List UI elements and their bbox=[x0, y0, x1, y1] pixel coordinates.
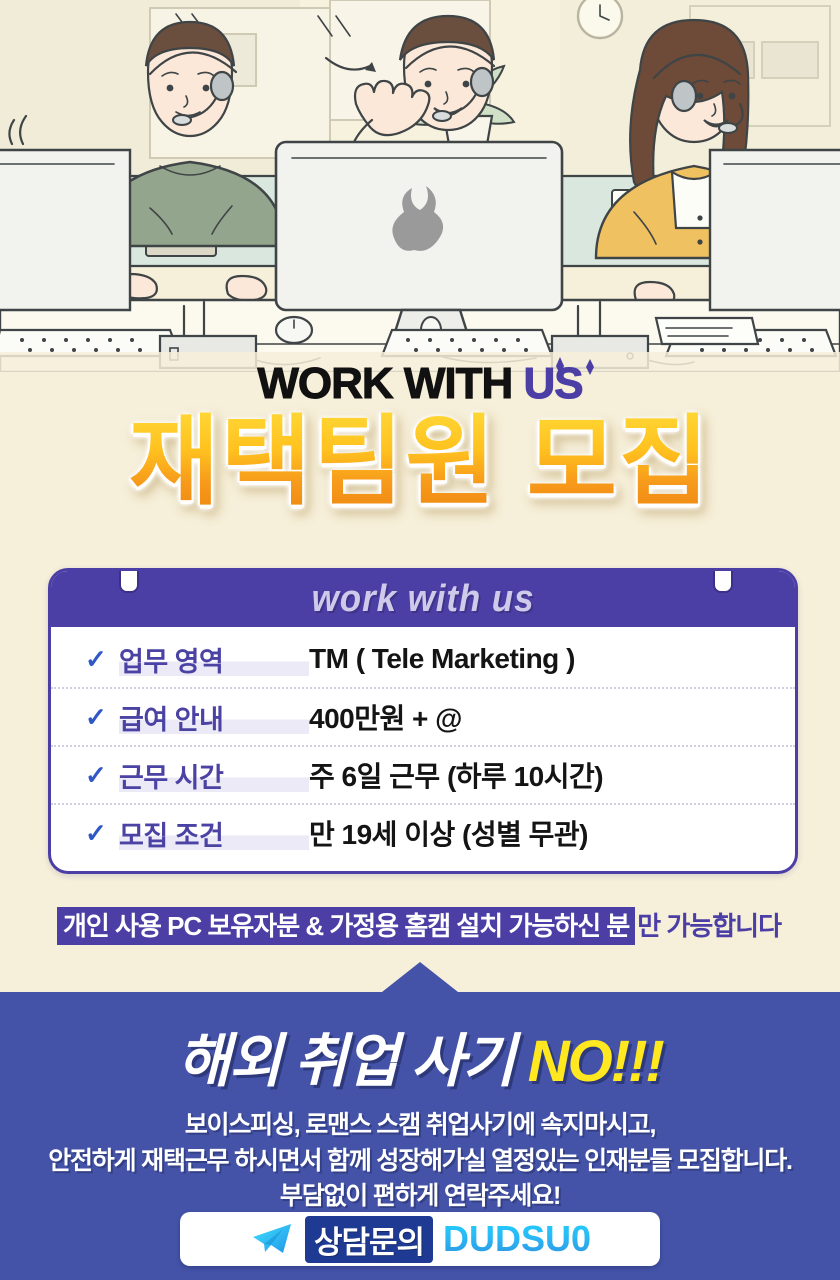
card-tab-left bbox=[119, 568, 139, 593]
panel-arrow bbox=[382, 962, 458, 992]
row-value: TM ( Tele Marketing ) bbox=[309, 643, 575, 675]
headline-block: WORK WITH US 재택팀원 모집 bbox=[0, 362, 840, 510]
headline-english: WORK WITH US bbox=[0, 362, 840, 406]
table-row: ✓ 근무 시간 주 6일 근무 (하루 10시간) bbox=[51, 745, 795, 803]
row-label: 업무 영역 bbox=[119, 640, 309, 679]
telegram-icon bbox=[249, 1220, 295, 1258]
row-value: 400만원 + @ bbox=[309, 697, 462, 737]
warning-body: 보이스피싱, 로맨스 스캠 취업사기에 속지마시고, 안전하게 재택근무 하시면… bbox=[0, 1108, 840, 1215]
headline-english-plain: WORK WITH bbox=[257, 359, 512, 408]
card-header-text: work with us bbox=[312, 578, 535, 621]
table-row: ✓ 업무 영역 TM ( Tele Marketing ) bbox=[51, 631, 795, 687]
row-value: 만 19세 이상 (성별 무관) bbox=[309, 813, 588, 853]
telegram-badge-label: 상담문의 bbox=[305, 1216, 433, 1263]
warning-title-main: 해외 취업 사기 bbox=[177, 1029, 513, 1094]
card-body: ✓ 업무 영역 TM ( Tele Marketing ) ✓ 급여 안내 40… bbox=[51, 627, 795, 871]
row-label: 급여 안내 bbox=[119, 698, 309, 737]
card-header: work with us bbox=[51, 571, 795, 627]
table-row: ✓ 급여 안내 400만원 + @ bbox=[51, 687, 795, 745]
check-icon: ✓ bbox=[85, 702, 119, 733]
card-tab-right bbox=[713, 568, 733, 593]
warning-title: 해외 취업 사기 NO!!! bbox=[0, 1014, 840, 1098]
telegram-contact-button[interactable]: 상담문의 DUDSU0 bbox=[180, 1212, 660, 1266]
info-card: work with us ✓ 업무 영역 TM ( Tele Marketing… bbox=[48, 568, 798, 874]
requirement-remainder: 만 가능합니다 bbox=[635, 907, 783, 945]
headline-korean: 재택팀원 모집 bbox=[0, 412, 840, 510]
check-icon: ✓ bbox=[85, 760, 119, 791]
row-label: 근무 시간 bbox=[119, 756, 309, 795]
telegram-handle: DUDSU0 bbox=[443, 1218, 591, 1260]
requirement-strip: 개인 사용 PC 보유자분 & 가정용 홈캠 설치 가능하신 분만 가능합니다 bbox=[0, 906, 840, 943]
check-icon: ✓ bbox=[85, 818, 119, 849]
row-label: 모집 조건 bbox=[119, 814, 309, 853]
sparkle-group bbox=[546, 355, 626, 381]
table-row: ✓ 모집 조건 만 19세 이상 (성별 무관) bbox=[51, 803, 795, 861]
warning-line: 안전하게 재택근무 하시면서 함께 성장해가실 열정있는 인재분들 모집합니다. bbox=[0, 1144, 840, 1180]
check-icon: ✓ bbox=[85, 644, 119, 675]
hero-illustration: .ln{fill:none;stroke:#3f4446;stroke-widt… bbox=[0, 0, 840, 372]
warning-line: 보이스피싱, 로맨스 스캠 취업사기에 속지마시고, bbox=[0, 1108, 840, 1144]
warning-line: 부담없이 편하게 연락주세요! bbox=[0, 1179, 840, 1215]
warning-title-accent: NO!!! bbox=[528, 1029, 663, 1094]
requirement-highlight: 개인 사용 PC 보유자분 & 가정용 홈캠 설치 가능하신 분 bbox=[57, 907, 635, 945]
row-value: 주 6일 근무 (하루 10시간) bbox=[309, 755, 603, 795]
poster-root: .ln{fill:none;stroke:#3f4446;stroke-widt… bbox=[0, 0, 840, 1280]
sparkle-icon bbox=[556, 357, 594, 375]
